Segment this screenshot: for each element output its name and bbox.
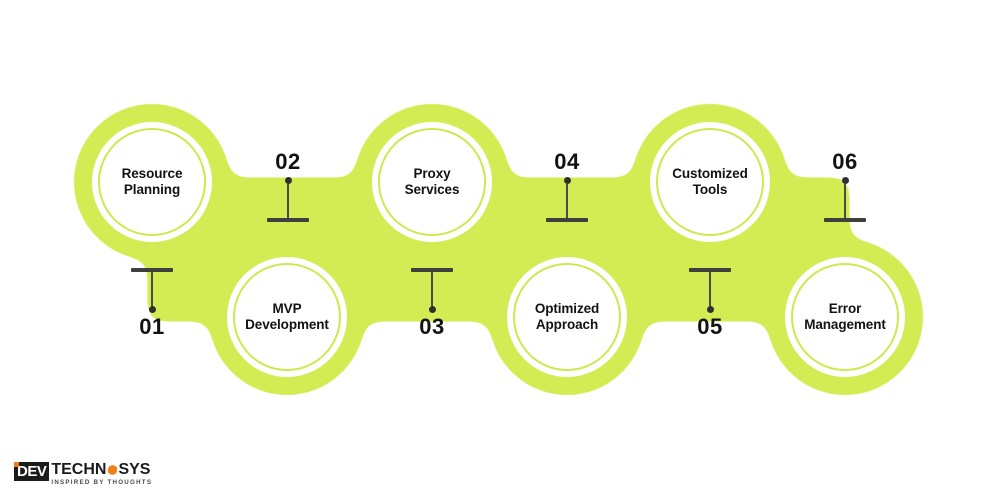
logo-word-part-2: SYS xyxy=(118,462,150,478)
step-number-02: 02 xyxy=(253,150,323,174)
brand-logo: DEV TECHN SYS INSPIRED BY THOUGHTS xyxy=(14,462,152,487)
step-label-optimized-approach: Optimized Approach xyxy=(502,301,632,333)
step-marker-03: 03 xyxy=(397,268,467,339)
marker-dot xyxy=(285,177,292,184)
step-label-customized-tools: Customized Tools xyxy=(645,166,775,198)
step-label-proxy-services: Proxy Services xyxy=(367,166,497,198)
step-number-06: 06 xyxy=(810,150,880,174)
step-marker-04: 04 xyxy=(532,150,602,222)
marker-bar xyxy=(824,218,866,222)
marker-dot xyxy=(707,306,714,313)
step-label-mvp-development: MVP Development xyxy=(222,301,352,333)
marker-stem xyxy=(566,184,568,218)
logo-accent-corner xyxy=(14,462,19,467)
process-chain-graphic xyxy=(0,0,1000,500)
step-marker-06: 06 xyxy=(810,150,880,222)
infographic-canvas: Resource Planning MVP Development Proxy … xyxy=(0,0,1000,500)
marker-dot xyxy=(564,177,571,184)
gear-icon xyxy=(107,465,117,475)
step-marker-05: 05 xyxy=(675,268,745,339)
logo-dev-text: DEV xyxy=(17,463,46,480)
marker-dot xyxy=(149,306,156,313)
marker-stem xyxy=(844,184,846,218)
step-label-resource-planning: Resource Planning xyxy=(87,166,217,198)
marker-stem xyxy=(151,272,153,306)
logo-tagline: INSPIRED BY THOUGHTS xyxy=(51,479,152,487)
logo-dev-badge: DEV xyxy=(14,462,49,481)
step-number-01: 01 xyxy=(117,315,187,339)
step-number-03: 03 xyxy=(397,315,467,339)
marker-stem xyxy=(287,184,289,218)
marker-stem xyxy=(431,272,433,306)
step-number-04: 04 xyxy=(532,150,602,174)
logo-word-part-1: TECHN xyxy=(51,462,106,478)
step-marker-01: 01 xyxy=(117,268,187,339)
step-marker-02: 02 xyxy=(253,150,323,222)
marker-dot xyxy=(429,306,436,313)
marker-dot xyxy=(842,177,849,184)
marker-bar xyxy=(546,218,588,222)
marker-bar xyxy=(267,218,309,222)
logo-wordmark: TECHN SYS xyxy=(51,462,152,478)
step-number-05: 05 xyxy=(675,315,745,339)
ring-band xyxy=(74,104,923,395)
marker-stem xyxy=(709,272,711,306)
step-label-error-management: Error Management xyxy=(780,301,910,333)
